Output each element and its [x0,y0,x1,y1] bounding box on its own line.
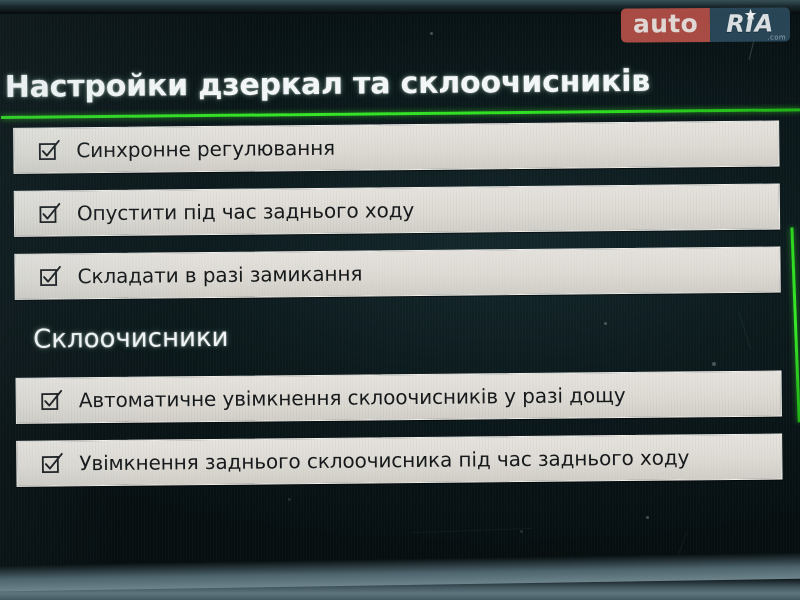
lcd-screen: Настройки дзеркал та склоочисників Синхр… [0,10,800,582]
list-item[interactable]: Автоматичне увімкнення склоочисників у р… [16,371,782,424]
list-item[interactable]: Складати в разі замикання [14,247,780,300]
list-item-label: Увімкнення заднього склоочисника під час… [79,445,689,475]
checkbox-checked-icon[interactable] [39,202,61,224]
settings-screen-ui: Настройки дзеркал та склоочисників Синхр… [0,10,800,582]
checkbox-checked-icon[interactable] [39,265,61,287]
list-item-label: Складати в разі замикання [77,262,362,289]
watermark-dotcom-text: .com [767,34,786,42]
watermark-auto-text: auto [621,8,710,43]
list-item[interactable]: Увімкнення заднього склоочисника під час… [16,434,782,487]
checkbox-checked-icon[interactable] [38,139,60,161]
checkbox-checked-icon[interactable] [41,452,63,474]
star-icon: ★ [744,8,758,23]
page-title: Настройки дзеркал та склоочисників [5,64,651,105]
photo-of-infotainment-screen: Настройки дзеркал та склоочисників Синхр… [0,0,800,600]
scroll-indicator[interactable] [790,227,800,422]
title-divider [1,108,800,119]
list-item-label: Опустити під час заднього ходу [77,198,414,225]
list-item[interactable]: Синхронне регулювання [13,121,779,174]
list-item-label: Синхронне регулювання [76,136,335,162]
screen-bezel-top-highlight [0,0,800,5]
list-item-label: Автоматичне увімкнення склоочисників у р… [79,383,626,412]
checkbox-checked-icon[interactable] [41,389,63,411]
autoria-watermark: auto ★ RIA .com [621,7,790,42]
section-header-wipers: Склоочисники [33,323,229,355]
list-item[interactable]: Опустити під час заднього ходу [14,184,780,237]
watermark-ria-box: ★ RIA .com [710,7,790,42]
